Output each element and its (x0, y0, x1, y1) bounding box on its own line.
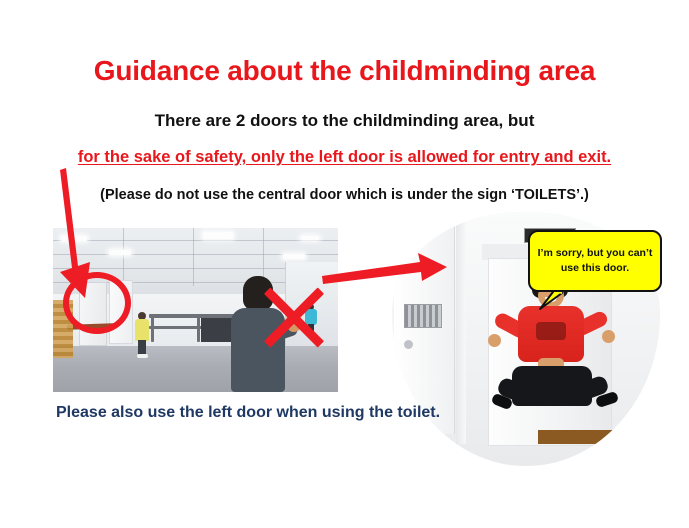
slide-canvas: Guidance about the childminding area The… (0, 0, 689, 528)
speech-bubble: I’m sorry, but you can’t use this door. (528, 230, 662, 292)
shoes (137, 354, 148, 358)
ceiling-light (109, 250, 131, 255)
page-title: Guidance about the childminding area (0, 56, 689, 87)
ceiling-light (283, 254, 305, 259)
right-hand (602, 330, 615, 343)
intro-line: There are 2 doors to the childminding ar… (0, 111, 689, 131)
speech-bubble-text: I’m sorry, but you can’t use this door. (530, 246, 660, 276)
ceiling-grid-line (123, 228, 124, 286)
ceiling-light (203, 232, 233, 239)
red-x-marking-central-door (266, 287, 322, 347)
torso (135, 319, 149, 341)
left-hand (488, 334, 501, 347)
door-knob (404, 340, 413, 349)
ceiling-light (301, 236, 319, 240)
shirt-graphic (536, 322, 566, 340)
arrow-down-icon (52, 166, 108, 300)
red-arrow-to-toilet-photo (322, 250, 448, 288)
ceiling-grid-line (193, 228, 194, 286)
rack-leg (197, 314, 200, 342)
arrow-right-icon (322, 250, 448, 288)
wooden-skirting (538, 430, 624, 444)
wall-notice (404, 304, 442, 328)
safety-warning-line: for the sake of safety, only the left do… (0, 148, 689, 167)
rack-leg (151, 314, 154, 342)
red-arrow-pointing-to-left-door (52, 166, 108, 300)
footer-note: Please also use the left door when using… (56, 404, 576, 422)
person-in-yellow (135, 312, 149, 358)
